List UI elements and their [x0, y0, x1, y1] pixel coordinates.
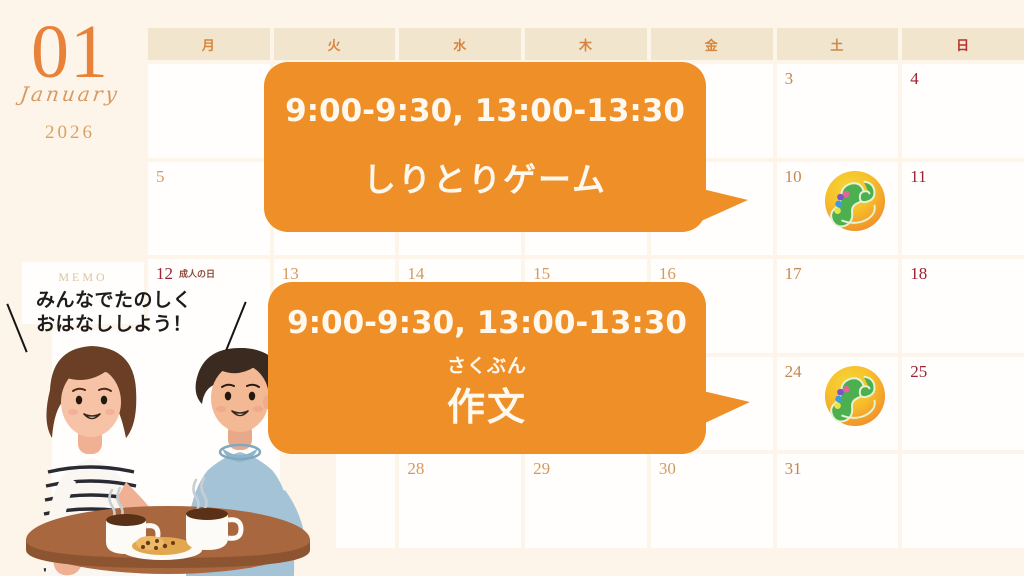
year-label: 2026 — [0, 122, 140, 144]
date-cell-29[interactable]: 29 — [525, 454, 647, 548]
date-cell-31[interactable]: 31 — [777, 454, 899, 548]
date-number: 24 — [785, 362, 802, 381]
weekday-header-5: 土 — [777, 28, 899, 60]
date-cell-3[interactable]: 3 — [777, 64, 899, 158]
event-bubble-2-time: 9:00-9:30, 13:00-13:30 — [287, 305, 687, 341]
date-cell-1[interactable]: 1 — [148, 64, 270, 158]
date-number: 31 — [785, 459, 802, 478]
event-bubble-1[interactable]: 9:00-9:30, 13:00-13:30 しりとりゲーム — [264, 62, 706, 232]
weekday-header-4: 金 — [651, 28, 773, 60]
date-number: 13 — [282, 264, 299, 283]
date-number: 12 — [156, 264, 173, 283]
memo-text-line-2: おはなししよう！ — [36, 312, 192, 336]
date-number: 18 — [910, 264, 927, 283]
event-bubble-2-tail — [690, 388, 750, 430]
date-number: 10 — [785, 167, 802, 186]
date-number: 25 — [910, 362, 927, 381]
date-number: 17 — [785, 264, 802, 283]
month-number: 01 — [0, 18, 140, 88]
date-number: 11 — [910, 167, 926, 186]
memo-text-line-1: みんなでたのしく — [36, 288, 192, 312]
date-cell-empty[interactable] — [902, 454, 1024, 548]
green-bird-circle-logo — [824, 365, 886, 427]
weekday-header-1: 火 — [274, 28, 396, 60]
date-cell-25[interactable]: 25 — [902, 357, 1024, 451]
event-bubble-2-title: 作文 — [447, 376, 527, 431]
date-cell-30[interactable]: 30 — [651, 454, 773, 548]
date-number: 14 — [407, 264, 424, 283]
green-bird-circle-logo — [824, 170, 886, 232]
date-cell-17[interactable]: 17 — [777, 259, 899, 353]
weekday-header-6: 日 — [902, 28, 1024, 60]
date-cell-28[interactable]: 28 — [399, 454, 521, 548]
date-cell-24[interactable]: 24 — [777, 357, 899, 451]
event-bubble-2[interactable]: 9:00-9:30, 13:00-13:30 さくぶん 作文 — [268, 282, 706, 454]
event-bubble-2-furigana: さくぶん — [447, 351, 527, 378]
date-number: 5 — [156, 167, 165, 186]
date-number: 29 — [533, 459, 550, 478]
memo-label: MEMO — [22, 262, 144, 285]
date-number: 15 — [533, 264, 550, 283]
date-number: 28 — [407, 459, 424, 478]
weekday-header-0: 月 — [148, 28, 270, 60]
holiday-label: 成人の日 — [179, 269, 215, 279]
date-number: 16 — [659, 264, 676, 283]
weekday-header-2: 水 — [399, 28, 521, 60]
date-cell-18[interactable]: 18 — [902, 259, 1024, 353]
date-number: 3 — [785, 69, 794, 88]
calendar-page: 01 January 2026 月火水木金土日 12345678910 1112… — [0, 0, 1024, 576]
date-cell-5[interactable]: 5 — [148, 162, 270, 256]
date-cell-11[interactable]: 11 — [902, 162, 1024, 256]
event-bubble-1-title: しりとりゲーム — [363, 153, 607, 201]
memo-text: みんなでたのしく おはなししよう！ — [36, 288, 192, 337]
date-cell-4[interactable]: 4 — [902, 64, 1024, 158]
event-bubble-1-tail — [690, 186, 748, 226]
event-bubble-1-time: 9:00-9:30, 13:00-13:30 — [285, 93, 685, 129]
date-number: 30 — [659, 459, 676, 478]
month-name: January — [0, 82, 142, 106]
month-title-block: 01 January 2026 — [0, 18, 140, 144]
weekday-header-3: 木 — [525, 28, 647, 60]
date-number: 4 — [910, 69, 919, 88]
date-cell-10[interactable]: 10 — [777, 162, 899, 256]
weekday-header-row: 月火水木金土日 — [148, 28, 1024, 60]
